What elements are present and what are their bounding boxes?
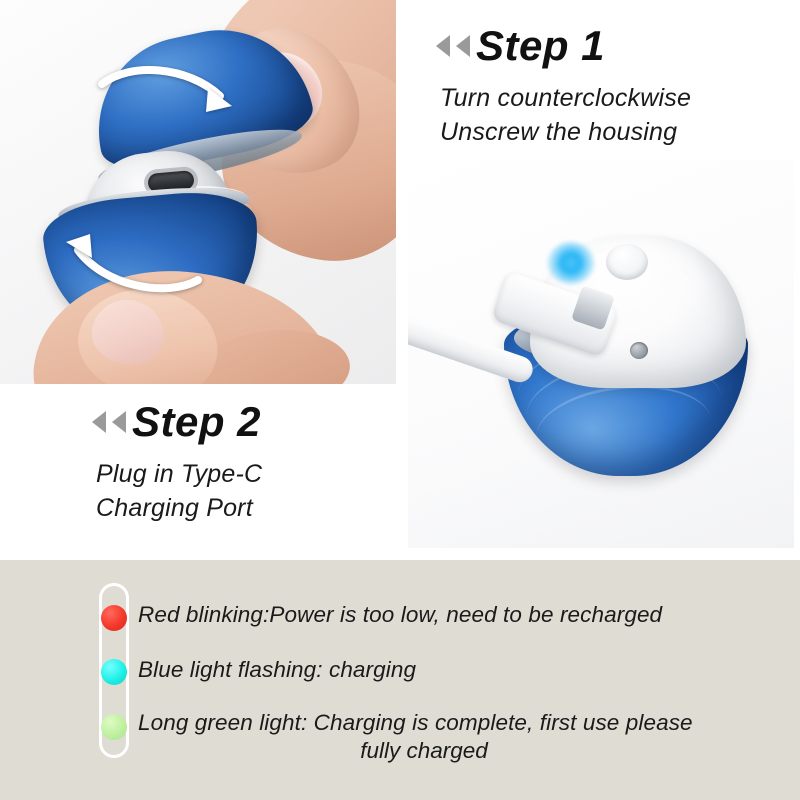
step-1-heading-label: Step 1 [476, 22, 605, 70]
legend-dot-red [101, 605, 127, 631]
legend-label-green: Long green light: Charging is complete, … [138, 710, 693, 736]
device-button [606, 244, 648, 280]
step-2-body: Plug in Type-C Charging Port [96, 458, 262, 525]
legend-dot-blue [101, 659, 127, 685]
photo-unscrew-housing [0, 0, 396, 384]
step-1-body: Turn counterclockwise Unscrew the housin… [440, 82, 691, 149]
led-indicator-glow [548, 242, 594, 284]
left-triangle-icon [436, 35, 450, 57]
left-triangle-icon [112, 411, 126, 433]
step-2-heading: Step 2 [92, 398, 261, 446]
legend-label-blue: Blue light flashing: charging [138, 657, 416, 683]
step-1-heading: Step 1 [436, 22, 605, 70]
left-triangle-icon [456, 35, 470, 57]
legend-label-red: Red blinking:Power is too low, need to b… [138, 602, 662, 628]
photo-charging-port [408, 160, 794, 548]
infographic-page: Step 1 Turn counterclockwise Unscrew the… [0, 0, 800, 800]
legend-dot-green [101, 714, 127, 740]
step-2-heading-label: Step 2 [132, 398, 261, 446]
device-screw [630, 342, 648, 359]
legend-label-green-line2: fully charged [138, 738, 710, 764]
left-triangle-icon [92, 411, 106, 433]
